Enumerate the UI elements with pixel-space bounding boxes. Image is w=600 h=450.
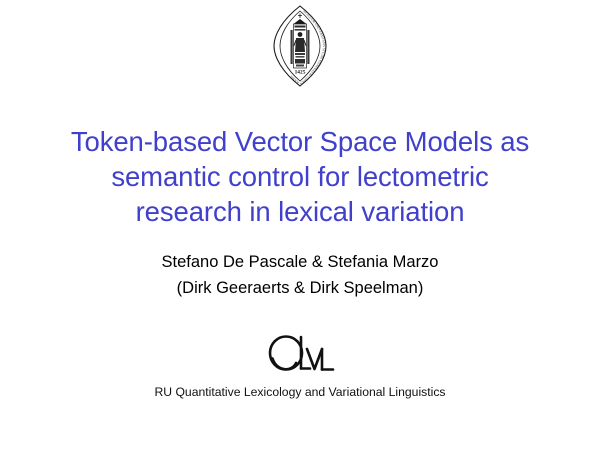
authors-block: Stefano De Pascale & Stefania Marzo (Dir…	[0, 249, 600, 301]
footer-caption: RU Quantitative Lexicology and Variation…	[0, 384, 600, 400]
title-line-1: Token-based Vector Space Models as	[0, 124, 600, 159]
seal-date-text: 1425	[295, 70, 306, 76]
university-seal-container: SIGILLUM UNIVERSITATIS STUDII GENERALIS …	[0, 4, 600, 88]
title-line-2: semantic control for lectometric	[0, 159, 600, 194]
authors-primary: Stefano De Pascale & Stefania Marzo	[0, 249, 600, 275]
page-title: Token-based Vector Space Models as seman…	[0, 124, 600, 229]
qlvl-monogram-icon	[262, 332, 338, 378]
title-slide: SIGILLUM UNIVERSITATIS STUDII GENERALIS …	[0, 0, 600, 450]
research-unit-logo-container	[0, 332, 600, 378]
footer-text: RU Quantitative Lexicology and Variation…	[0, 384, 600, 400]
authors-secondary: (Dirk Geeraerts & Dirk Speelman)	[0, 275, 600, 301]
title-line-3: research in lexical variation	[0, 194, 600, 229]
ku-leuven-seal-icon: SIGILLUM UNIVERSITATIS STUDII GENERALIS …	[269, 4, 331, 88]
